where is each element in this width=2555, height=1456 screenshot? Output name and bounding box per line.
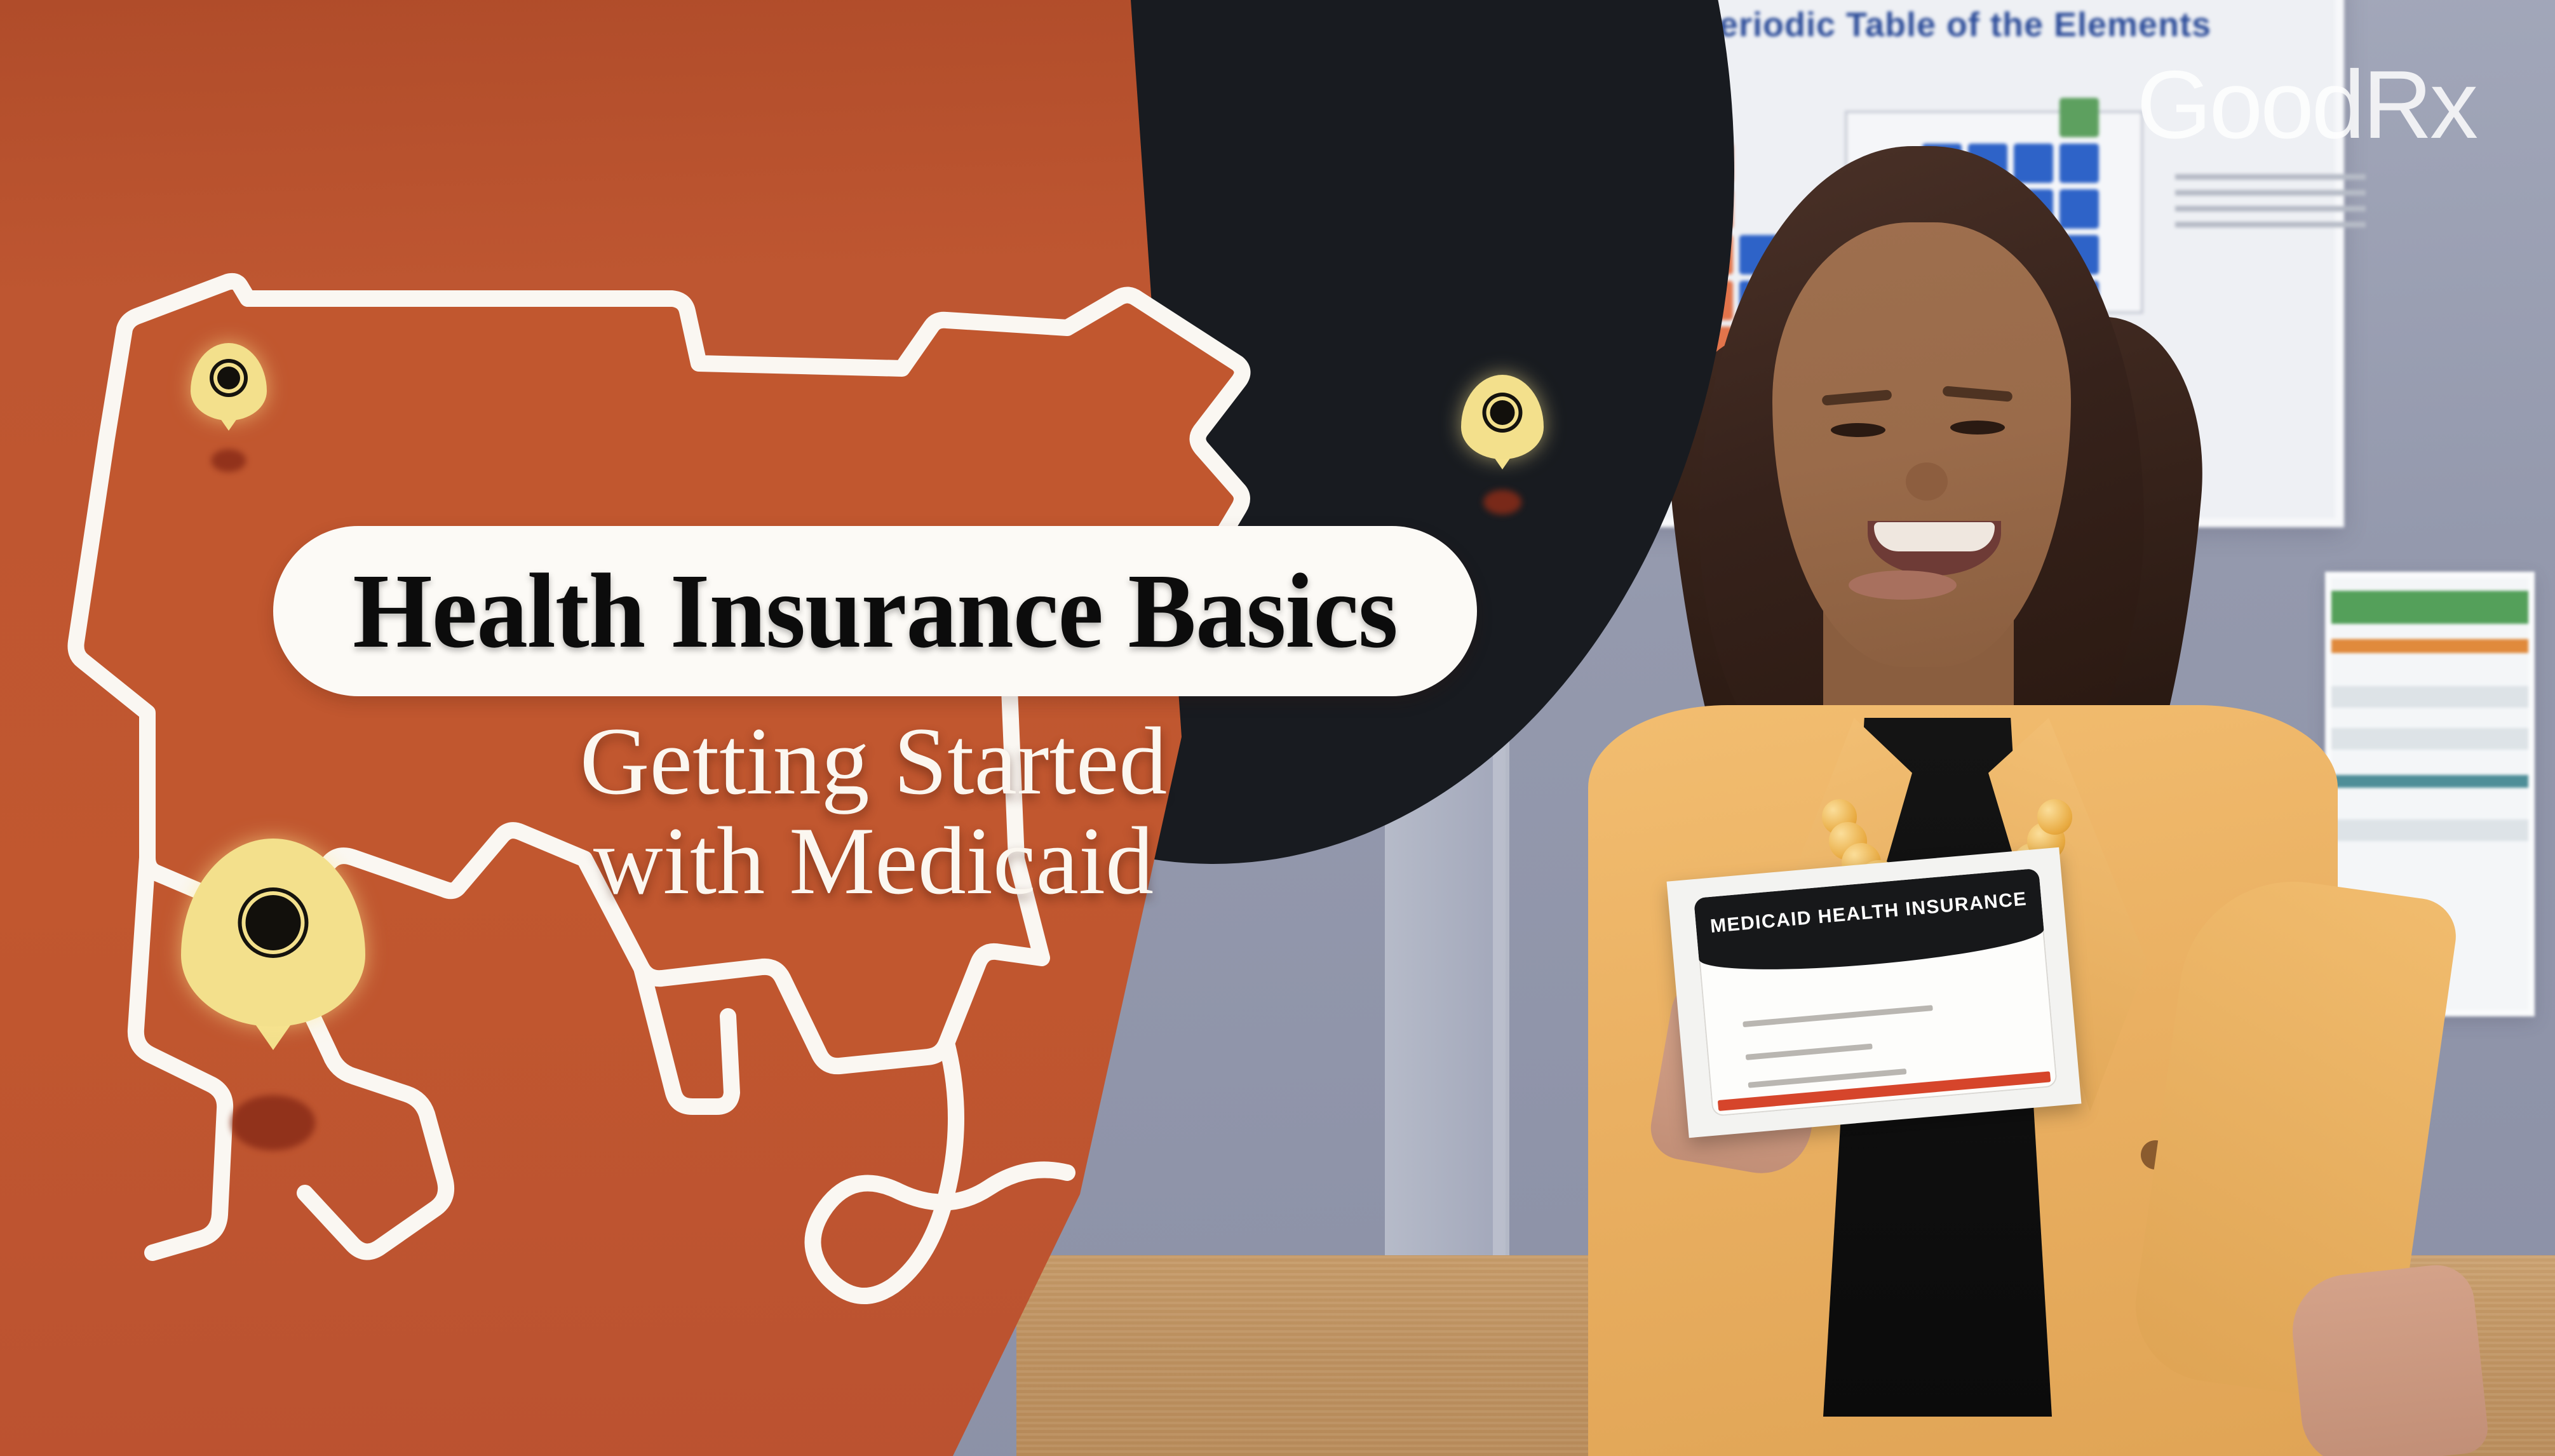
map-pin-shadow [1483, 490, 1521, 515]
us-gulf-coast-path [642, 968, 732, 1107]
medicaid-card-title: MEDICAID HEALTH INSURANCE [1695, 887, 2042, 939]
map-pin-center-dot [217, 367, 240, 389]
map-pin-northwest[interactable] [191, 343, 267, 477]
card-field-name [1743, 1005, 1933, 1027]
subtitle: Getting Started with Medicaid [299, 711, 1448, 910]
right-hand [2287, 1262, 2490, 1456]
subtitle-line-1: Getting Started [299, 711, 1448, 811]
eyebrow-left [1822, 389, 1892, 406]
medicaid-card-header-band: MEDICAID HEALTH INSURANCE [1694, 868, 2046, 980]
mouth [1868, 521, 2001, 576]
map-pin-shadow [211, 449, 246, 472]
lower-lip [1849, 570, 1957, 600]
page-title: Health Insurance Basics [353, 550, 1398, 673]
eye-left [1831, 423, 1885, 437]
map-pin-northeast[interactable] [1461, 375, 1544, 520]
teeth [1874, 522, 1995, 551]
card-red-stripe [1718, 1071, 2051, 1111]
card-field-id [1746, 1044, 1873, 1060]
eyebrow-right [1943, 386, 2013, 402]
periodic-element-cell [2060, 98, 2099, 137]
subtitle-line-2: with Medicaid [299, 811, 1448, 911]
face [1772, 222, 2071, 667]
medicaid-card: MEDICAID HEALTH INSURANCE [1667, 847, 2082, 1138]
map-pin-center-dot [246, 895, 301, 950]
medicaid-card-inner: MEDICAID HEALTH INSURANCE [1694, 868, 2058, 1117]
video-frame: Periodic Table of the Elements O [0, 0, 2555, 1456]
eye-right [1950, 421, 2005, 435]
title-pill: Health Insurance Basics [273, 526, 1477, 696]
nose [1906, 462, 1948, 501]
florida-squiggle-path [812, 1043, 1067, 1296]
necklace-bead [2037, 799, 2073, 835]
map-pin-shadow [231, 1095, 315, 1150]
card-field-plan [1748, 1068, 1907, 1088]
map-pin-center-dot [1490, 400, 1515, 425]
goodrx-logo: GoodRx [2136, 50, 2476, 161]
